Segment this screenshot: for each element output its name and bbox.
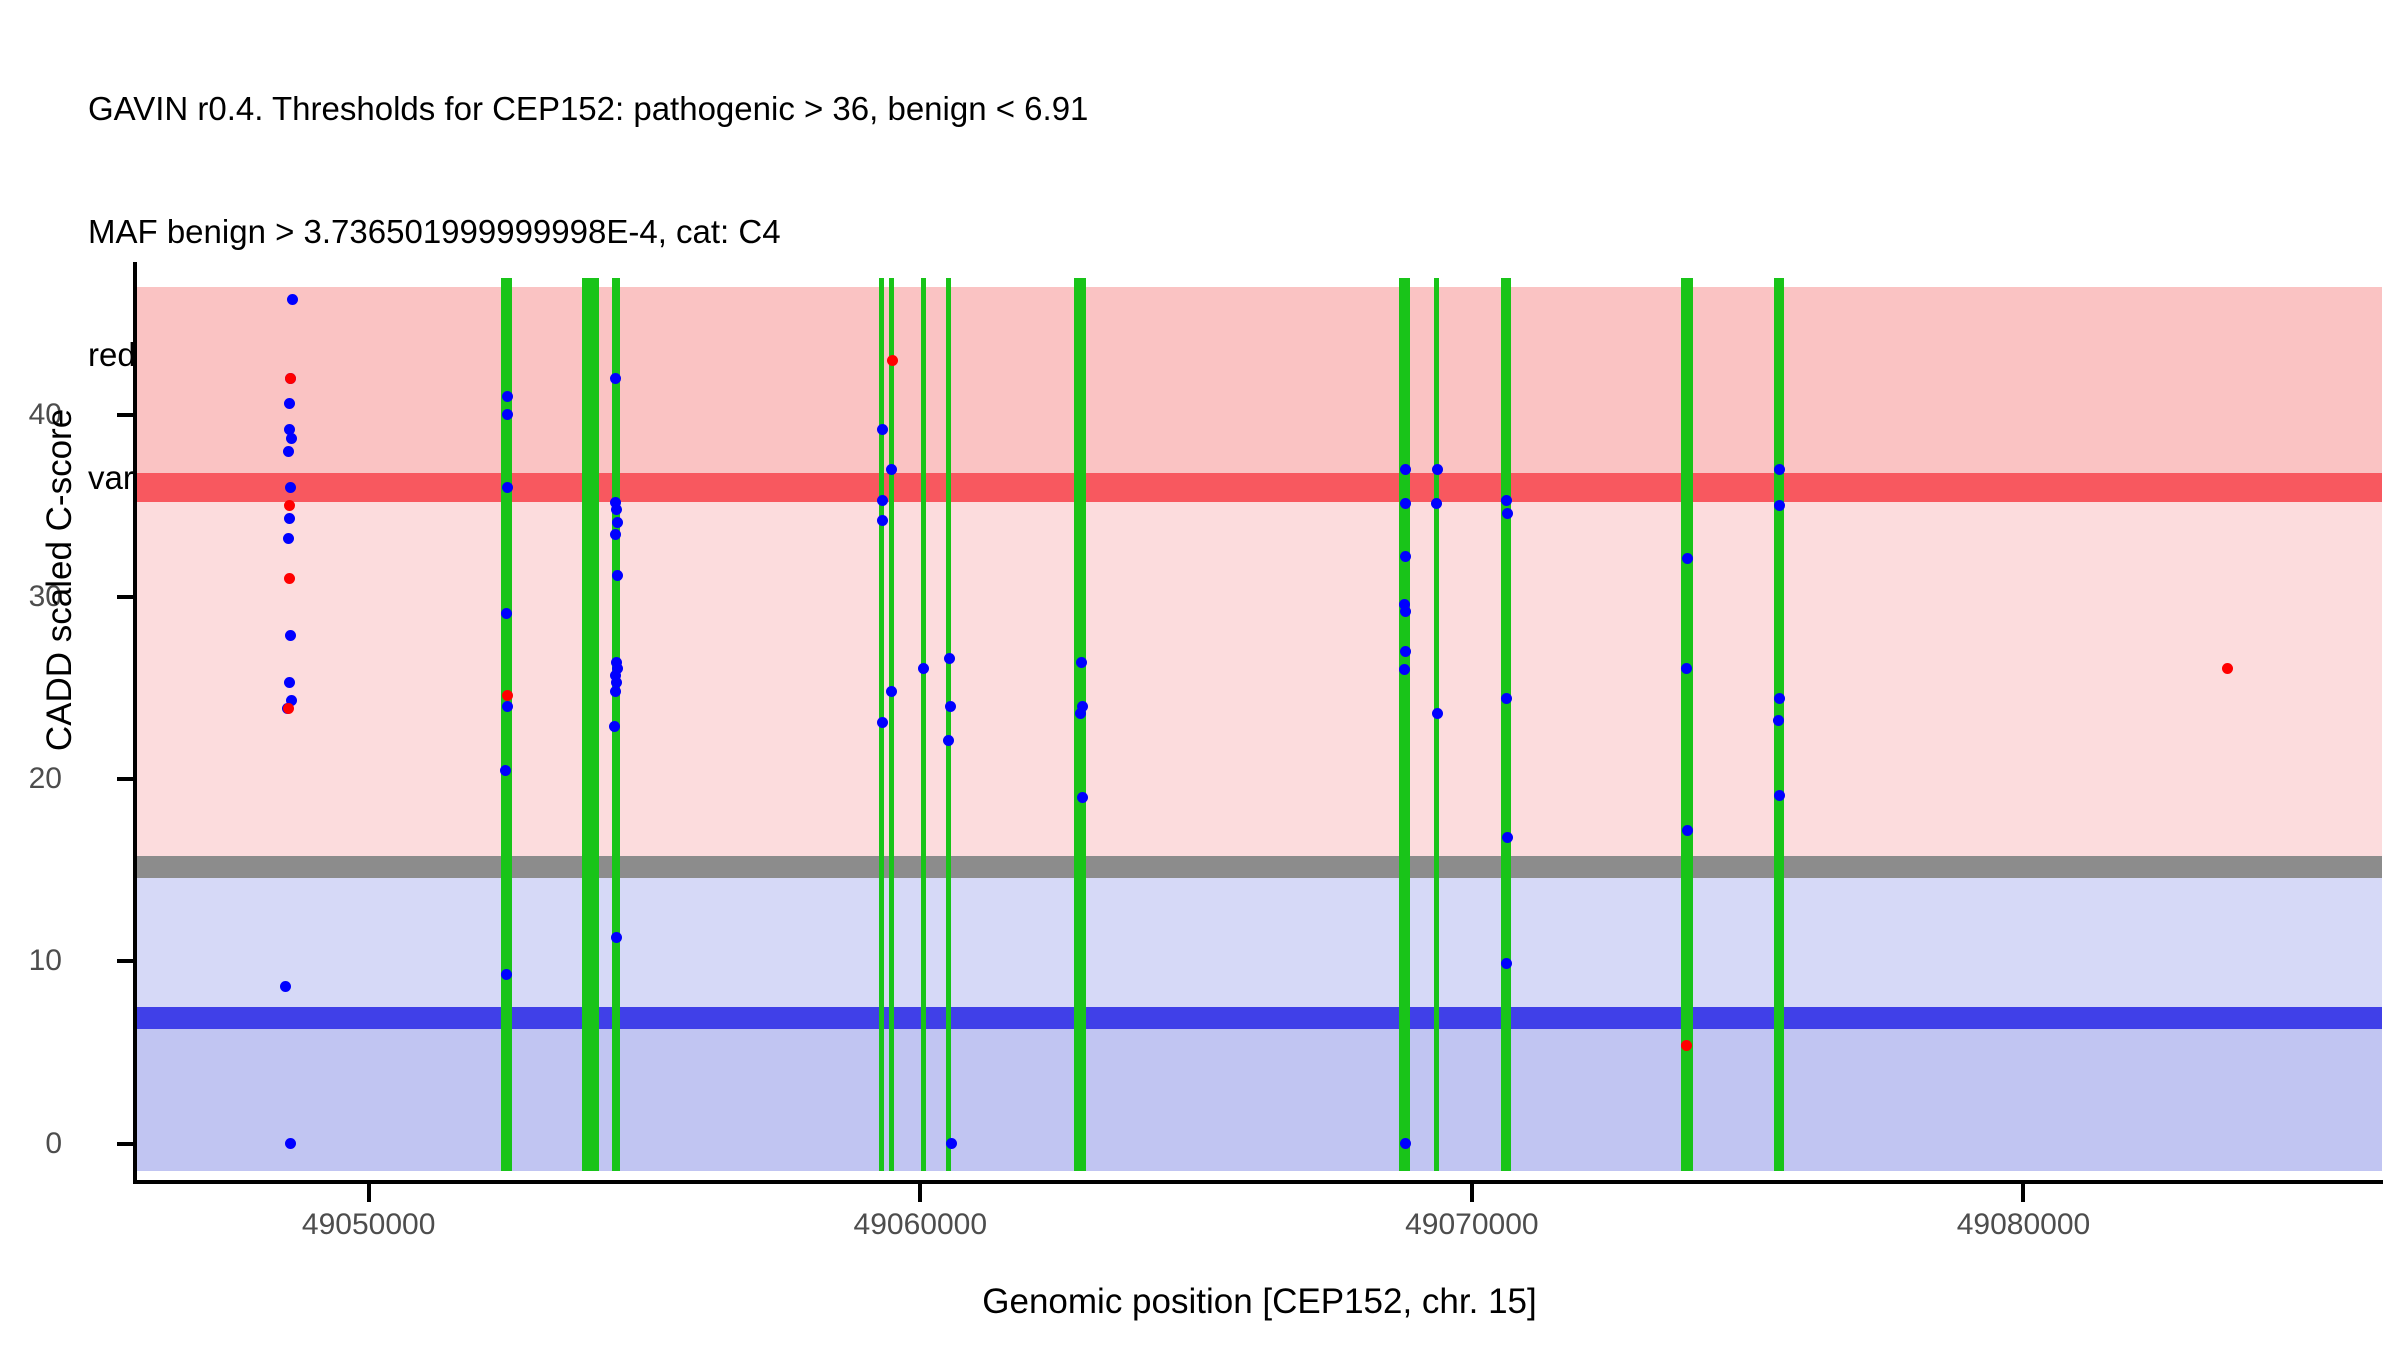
exon-line bbox=[1399, 278, 1411, 1171]
x-axis-line bbox=[133, 1180, 2383, 1184]
variant-point bbox=[1400, 464, 1411, 475]
variant-point bbox=[1502, 508, 1513, 519]
variant-point bbox=[886, 464, 897, 475]
x-axis-tick-label: 49060000 bbox=[854, 1208, 987, 1242]
x-axis-tick-label: 49080000 bbox=[1957, 1208, 2090, 1242]
exon-line bbox=[1681, 278, 1692, 1171]
variant-point bbox=[284, 573, 295, 584]
fallback-threshold-band bbox=[137, 856, 2382, 878]
exon-line bbox=[582, 278, 599, 1171]
variant-point bbox=[946, 1138, 957, 1149]
variant-point bbox=[286, 433, 297, 444]
x-axis-tick-label: 49050000 bbox=[302, 1208, 435, 1242]
y-axis-tick bbox=[117, 595, 135, 599]
variant-point bbox=[1400, 646, 1411, 657]
x-axis-tick-label: 49070000 bbox=[1405, 1208, 1538, 1242]
benign-threshold-band bbox=[137, 1007, 2382, 1029]
x-axis-tick bbox=[1470, 1184, 1474, 1202]
variant-point bbox=[1774, 790, 1785, 801]
plot-panel bbox=[137, 278, 2382, 1171]
exon-line bbox=[889, 278, 894, 1171]
variant-point bbox=[501, 969, 512, 980]
variant-point bbox=[877, 717, 888, 728]
y-axis-tick bbox=[117, 1142, 135, 1146]
y-axis-tick-label: 0 bbox=[45, 1127, 62, 1161]
variant-point bbox=[283, 703, 294, 714]
variant-point bbox=[918, 663, 929, 674]
variant-point bbox=[612, 517, 623, 528]
y-axis-line bbox=[133, 262, 137, 1184]
variant-point bbox=[887, 355, 898, 366]
pathogenic-threshold-band bbox=[137, 473, 2382, 502]
exon-line bbox=[1434, 278, 1439, 1171]
variant-point bbox=[285, 482, 296, 493]
variant-point bbox=[284, 513, 295, 524]
variant-point bbox=[609, 721, 620, 732]
variant-point bbox=[1681, 663, 1692, 674]
variant-point bbox=[1400, 1138, 1411, 1149]
x-axis-tick bbox=[918, 1184, 922, 1202]
variant-point bbox=[501, 608, 512, 619]
benign-upper-band bbox=[137, 878, 2382, 1007]
variant-point bbox=[502, 690, 513, 701]
exon-line bbox=[1074, 278, 1086, 1171]
variant-point bbox=[877, 515, 888, 526]
variant-point bbox=[1774, 464, 1785, 475]
variant-point bbox=[877, 424, 888, 435]
variant-point bbox=[2222, 663, 2233, 674]
variant-point bbox=[610, 686, 621, 697]
exon-line bbox=[946, 278, 951, 1171]
variant-point bbox=[1501, 958, 1512, 969]
variant-point bbox=[1682, 825, 1693, 836]
variant-point bbox=[500, 765, 511, 776]
pathogenic-lower-band bbox=[137, 502, 2382, 856]
pathogenic-upper-band bbox=[137, 287, 2382, 473]
variant-point bbox=[502, 701, 513, 712]
variant-point bbox=[283, 446, 294, 457]
variant-point bbox=[1501, 495, 1512, 506]
variant-point bbox=[1400, 551, 1411, 562]
variant-point bbox=[285, 1138, 296, 1149]
x-axis-label: Genomic position [CEP152, chr. 15] bbox=[137, 1282, 2382, 1322]
y-axis-tick-label: 10 bbox=[29, 944, 62, 978]
benign-lower-band bbox=[137, 1029, 2382, 1171]
variant-point bbox=[945, 701, 956, 712]
x-axis-tick bbox=[2021, 1184, 2025, 1202]
y-axis-tick bbox=[117, 959, 135, 963]
y-axis-tick bbox=[117, 777, 135, 781]
variant-point bbox=[877, 495, 888, 506]
y-axis-label: CADD scaled C-score bbox=[40, 320, 80, 840]
exon-line bbox=[1501, 278, 1511, 1171]
variant-point bbox=[1502, 832, 1513, 843]
chart-title-line-2: MAF benign > 3.736501999999998E-4, cat: … bbox=[88, 211, 2368, 252]
x-axis-tick bbox=[367, 1184, 371, 1202]
chart-title-line-1: GAVIN r0.4. Thresholds for CEP152: patho… bbox=[88, 88, 2368, 129]
y-axis-tick bbox=[117, 413, 135, 417]
variant-point bbox=[610, 373, 621, 384]
variant-point bbox=[1432, 464, 1443, 475]
chart-root: GAVIN r0.4. Thresholds for CEP152: patho… bbox=[0, 0, 2400, 1350]
variant-point bbox=[502, 409, 513, 420]
exon-line bbox=[921, 278, 926, 1171]
variant-point bbox=[1774, 500, 1785, 511]
variant-point bbox=[612, 570, 623, 581]
